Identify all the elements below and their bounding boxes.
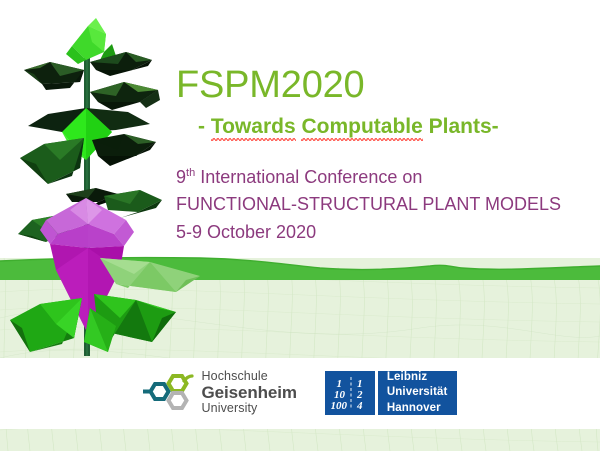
leibniz-line-1: Leibniz <box>387 370 448 385</box>
geisenheim-line-3: University <box>202 402 297 416</box>
leibniz-binary-mark: 1 10 100 1 2 4 <box>325 371 375 415</box>
conference-name-line: FUNCTIONAL-STRUCTURAL PLANT MODELS <box>176 191 592 218</box>
geisenheim-line-1: Hochschule <box>202 370 297 384</box>
logo-hochschule-geisenheim[interactable]: Hochschule Geisenheim University <box>143 370 297 415</box>
page-title: FSPM2020 <box>176 66 592 105</box>
edition-rest: International Conference on <box>195 167 422 187</box>
slide-subtitle: - Towards Computable Plants- <box>198 115 592 138</box>
conference-edition-line: 9th International Conference on <box>176 164 592 191</box>
geisenheim-hexagon-icon <box>143 372 195 414</box>
subtitle-prefix: - <box>198 115 211 138</box>
subtitle-word-computable: Computable <box>301 115 422 139</box>
leaf-far-right <box>100 258 200 292</box>
leibniz-wordmark: Leibniz Universität Hannover <box>378 371 458 415</box>
leibniz-line-2: Universität <box>387 385 448 400</box>
conference-date-line: 5-9 October 2020 <box>176 219 592 246</box>
conference-meta: 9th International Conference on FUNCTION… <box>176 164 592 246</box>
geisenheim-line-2: Geisenheim <box>202 384 297 402</box>
conference-title-slide: FSPM2020 - Towards Computable Plants- 9t… <box>0 0 600 451</box>
sponsor-logo-row: Hochschule Geisenheim University 1 10 10… <box>0 364 600 422</box>
leaf-right-2 <box>90 82 160 110</box>
subtitle-word-towards: Towards <box>211 115 296 139</box>
leibniz-numerals-icon: 1 10 100 1 2 4 <box>331 376 369 410</box>
leaf-left-2 <box>20 138 84 184</box>
leaf-left-1 <box>24 62 84 90</box>
leaf-bottom-left <box>10 298 82 352</box>
title-text-block: FSPM2020 - Towards Computable Plants- 9t… <box>176 66 592 246</box>
geisenheim-wordmark: Hochschule Geisenheim University <box>202 370 297 415</box>
subtitle-suffix: Plants- <box>423 115 499 138</box>
edition-number: 9 <box>176 167 186 187</box>
svg-text:100: 100 <box>331 400 348 410</box>
leaf-right-1 <box>90 52 152 76</box>
leibniz-line-3: Hannover <box>387 401 448 416</box>
leaf-right-3 <box>92 134 156 166</box>
logo-leibniz-universitaet-hannover[interactable]: 1 10 100 1 2 4 Leibniz Universität Hanno… <box>325 371 458 415</box>
svg-text:4: 4 <box>356 400 363 410</box>
edition-ordinal: th <box>186 167 195 179</box>
